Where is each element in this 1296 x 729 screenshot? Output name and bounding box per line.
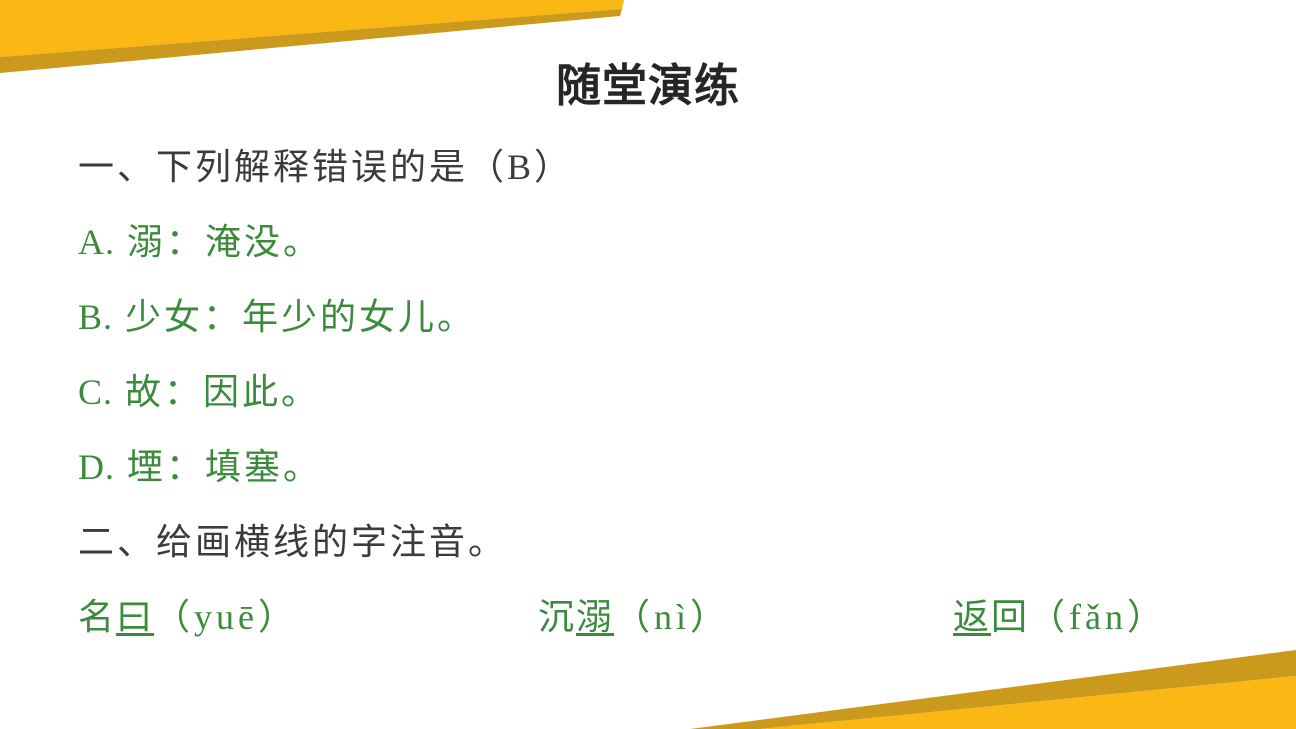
- option-b-text: 少女：年少的女儿。: [125, 297, 476, 337]
- answer-3-underlined: 返: [953, 597, 991, 637]
- option-c-text: 故：因此。: [125, 372, 320, 412]
- option-d: D. 堙：填塞。: [78, 430, 1268, 505]
- option-c: C. 故：因此。: [78, 355, 1268, 430]
- bottom-right-yellow-ribbon: [760, 676, 1296, 729]
- answer-2-underlined: 溺: [576, 597, 614, 637]
- option-d-text: 堙：填塞。: [127, 447, 322, 487]
- option-b-label: B.: [78, 297, 113, 337]
- pinyin-answer-3: 返回（fǎn）: [953, 580, 1167, 655]
- answer-3-pinyin: （fǎn）: [1029, 597, 1167, 637]
- answer-3-suffix: 回: [991, 597, 1029, 637]
- bottom-right-dark-ribbon: [690, 650, 1296, 729]
- answer-1-prefix: 名: [78, 597, 116, 637]
- exercise-body: 一、下列解释错误的是（B） A. 溺：淹没。 B. 少女：年少的女儿。 C. 故…: [78, 130, 1268, 655]
- option-d-label: D.: [78, 447, 115, 487]
- pinyin-answer-2: 沉溺（nì）: [538, 580, 730, 655]
- option-a-label: A.: [78, 222, 115, 262]
- top-left-yellow-ribbon: [0, 0, 624, 57]
- page-title: 随堂演练: [0, 62, 1296, 109]
- question-1: 一、下列解释错误的是（B）: [78, 130, 1268, 205]
- answer-2-prefix: 沉: [538, 597, 576, 637]
- question-2: 二、给画横线的字注音。: [78, 505, 1268, 580]
- answer-1-pinyin: （yuē）: [154, 597, 298, 637]
- option-c-label: C.: [78, 372, 113, 412]
- option-b: B. 少女：年少的女儿。: [78, 280, 1268, 355]
- answer-2-pinyin: （nì）: [614, 597, 730, 637]
- pinyin-answer-1: 名曰（yuē）: [78, 580, 298, 655]
- pinyin-answer-row: 名曰（yuē） 沉溺（nì） 返回（fǎn）: [78, 580, 1268, 655]
- option-a-text: 溺：淹没。: [127, 222, 322, 262]
- option-a: A. 溺：淹没。: [78, 205, 1268, 280]
- slide-canvas: 随堂演练 一、下列解释错误的是（B） A. 溺：淹没。 B. 少女：年少的女儿。…: [0, 0, 1296, 729]
- answer-1-underlined: 曰: [116, 597, 154, 637]
